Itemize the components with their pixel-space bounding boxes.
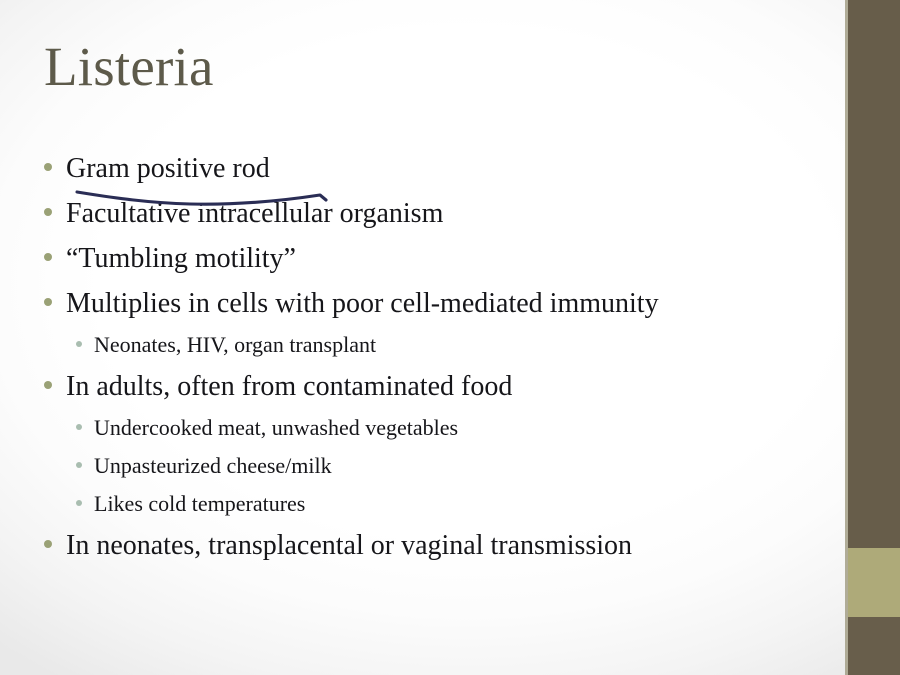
bullet-text: “Tumbling motility” bbox=[66, 242, 296, 275]
bullet-marker bbox=[44, 298, 52, 306]
bullet-text: Multiplies in cells with poor cell-media… bbox=[66, 287, 659, 320]
sub-bullet-marker bbox=[76, 341, 82, 347]
bullet-item: “Tumbling motility” bbox=[44, 242, 814, 287]
bullet-item: Gram positive rod bbox=[44, 152, 814, 197]
bar-segment-top bbox=[848, 0, 900, 548]
sub-bullet-marker bbox=[76, 424, 82, 430]
slide-title: Listeria bbox=[44, 38, 214, 96]
slide: Listeria Gram positive rod Facultative i… bbox=[0, 0, 900, 675]
bullet-marker bbox=[44, 163, 52, 171]
bullet-text: In neonates, transplacental or vaginal t… bbox=[66, 529, 632, 562]
bar-segment-accent bbox=[848, 548, 900, 617]
bullet-text: Gram positive rod bbox=[66, 152, 270, 185]
sub-bullet-text: Neonates, HIV, organ transplant bbox=[94, 332, 376, 358]
bullet-item: Multiplies in cells with poor cell-media… bbox=[44, 287, 814, 332]
bullet-marker bbox=[44, 253, 52, 261]
sub-bullet-item: Neonates, HIV, organ transplant bbox=[44, 332, 814, 370]
right-decorative-bar bbox=[845, 0, 900, 675]
bullet-item: In adults, often from contaminated food bbox=[44, 370, 814, 415]
sub-bullet-text: Undercooked meat, unwashed vegetables bbox=[94, 415, 458, 441]
sub-bullet-marker bbox=[76, 500, 82, 506]
bullet-item: Facultative intracellular organism bbox=[44, 197, 814, 242]
bullet-marker bbox=[44, 208, 52, 216]
sub-bullet-text: Likes cold temperatures bbox=[94, 491, 305, 517]
sub-bullet-text: Unpasteurized cheese/milk bbox=[94, 453, 332, 479]
sub-bullet-item: Unpasteurized cheese/milk bbox=[44, 453, 814, 491]
bullet-item: In neonates, transplacental or vaginal t… bbox=[44, 529, 814, 574]
bullet-marker bbox=[44, 540, 52, 548]
sub-bullet-item: Undercooked meat, unwashed vegetables bbox=[44, 415, 814, 453]
bullet-list: Gram positive rod Facultative intracellu… bbox=[44, 152, 814, 574]
bullet-text: Facultative intracellular organism bbox=[66, 197, 443, 230]
sub-bullet-marker bbox=[76, 462, 82, 468]
bullet-text: In adults, often from contaminated food bbox=[66, 370, 512, 403]
sub-bullet-item: Likes cold temperatures bbox=[44, 491, 814, 529]
bullet-marker bbox=[44, 381, 52, 389]
bar-segment-bottom bbox=[848, 617, 900, 675]
